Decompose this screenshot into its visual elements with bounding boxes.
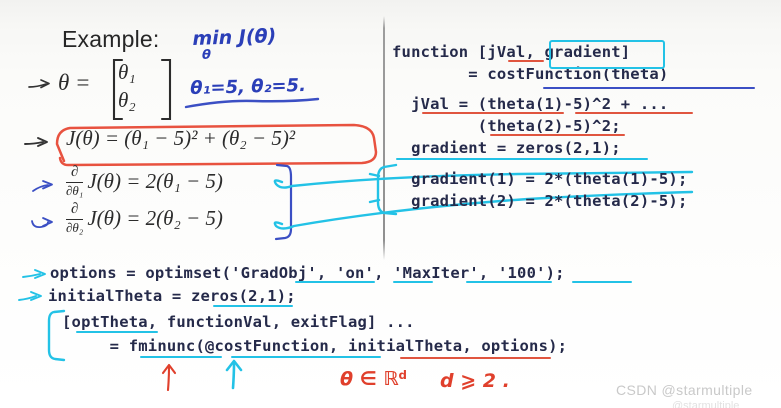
red-underline-theta2-term [490,134,625,136]
code-line-jval-cont: (theta(2)-5)^2; [392,117,621,135]
code-line-options: options = optimset('GradObj', 'on', 'Max… [50,264,565,282]
code-line-initialtheta: initialTheta = zeros(2,1); [48,287,296,305]
handwriting-theta-values: θ₁=5, θ₂=5. [190,75,306,99]
code-line-gradient-2: gradient(2) = 2*(theta(2)-5); [392,192,688,210]
theta-definition: θ = [58,70,91,96]
arrow-icon-derivative-1 [32,180,60,196]
code-line-jval: jVal = (theta(1)-5)^2 + ... [392,95,668,113]
derivative-2-body: J(θ) = 2(θ₂ − 5) [87,206,223,231]
cyan-underline-zeros-initialtheta [213,305,293,307]
watermark-faint: @starmultiple [672,400,739,408]
cyan-underline-costfunction-arg [231,356,381,358]
cyan-underline-gradient-zeros [396,158,648,160]
derivative-2-denominator: ∂θ₂ [66,221,83,235]
cyan-bracket-gradient-lines [370,162,406,218]
cyan-underline-fminunc [140,356,222,358]
arrow-icon-derivative-2 [30,215,60,233]
cyan-underline-100 [572,281,632,283]
page-title: Example: [62,26,159,53]
code-line-opttheta: [optTheta, functionVal, exitFlag] ... [62,313,415,331]
theta-matrix-row-2: θ₂ [118,88,136,113]
red-underline-theta1-term [575,112,693,114]
red-underline-jval-signature [508,60,544,62]
cyan-underline-maxiter [466,281,552,283]
theta-matrix-row-1: θ₁ [118,60,136,85]
red-arrow-up-fminunc [158,362,180,392]
cyan-underline-opttheta [76,331,158,333]
slide-canvas: Example: min J(θ) θ θ₁=5, θ₂=5. θ = θ₁ θ… [0,0,781,408]
handwriting-d-constraint: d ⩾ 2 . [440,370,510,392]
cyan-arrow-up-costfunction [222,358,246,390]
arrow-icon-theta-def [28,76,54,92]
derivative-1-numerator: ∂ [66,165,83,181]
derivative-1: ∂ ∂θ₁ J(θ) = 2(θ₁ − 5) [66,165,223,198]
cost-function-equation: J(θ) = (θ₁ − 5)² + (θ₂ − 5)² [66,126,295,151]
derivative-2: ∂ ∂θ₂ J(θ) = 2(θ₂ − 5) [66,202,223,235]
cyan-box-gradient-token [549,40,665,69]
red-underline-jval [422,112,564,114]
red-underline-initialtheta-arg [400,357,551,359]
handwriting-rd-exponent: d [399,368,407,382]
derivative-1-body: J(θ) = 2(θ₁ − 5) [87,169,223,194]
watermark: CSDN @starmultiple [616,382,753,398]
cyan-underline-gradobj [295,281,375,283]
handwriting-min-subscript: θ [202,48,211,63]
arrow-icon-initialtheta-line [18,290,46,306]
blue-underline-costfunction [543,87,755,89]
blue-underline-theta-values [184,97,324,111]
derivative-1-denominator: ∂θ₁ [66,184,83,198]
arrow-icon-options-line [22,268,50,284]
handwriting-min-j-theta: min J(θ) [192,25,277,50]
code-line-fminunc: = fminunc(@costFunction, initialTheta, o… [62,337,567,355]
handwriting-theta-in-rd: θ ∈ ℝd [340,368,407,390]
code-line-gradient-1: gradient(1) = 2*(theta(1)-5); [392,170,688,188]
arrow-icon-cost-function [24,135,52,151]
code-line-gradient-zeros: gradient = zeros(2,1); [392,139,621,157]
cyan-underline-on [393,281,433,283]
derivative-2-numerator: ∂ [66,202,83,218]
cyan-bracket-fminunc-block [44,308,70,364]
